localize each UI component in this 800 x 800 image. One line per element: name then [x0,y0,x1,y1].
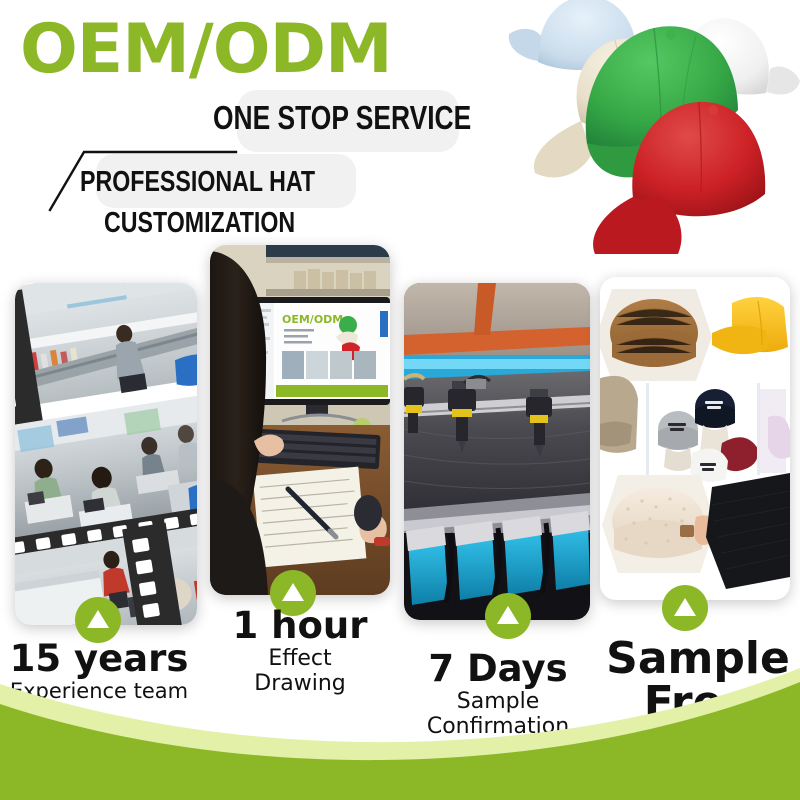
svg-text:OEM/ODM: OEM/ODM [282,313,343,326]
designer-at-computer-image: OEM/ODM [210,245,390,595]
baseball-cap-cluster-image [435,0,800,257]
panel-design[interactable]: OEM/ODM [210,245,390,595]
caption-design-title: 1 hour [205,607,395,646]
laser-cutting-machine-image [404,283,590,620]
panel-products[interactable] [600,277,790,600]
tagline-line-2: CUSTOMIZATION [104,209,295,238]
up-triangle-badge-products [662,585,708,631]
panel-factory[interactable] [15,283,197,625]
promo-banner: OEM/ODM ONE STOP SERVICE PROFESSIONAL HA… [0,0,800,800]
headline-subtitle: ONE STOP SERVICE [213,101,471,134]
bottom-green-wave-decoration [0,660,800,800]
tagline-line-1: PROFESSIONAL HAT [80,168,315,197]
panel-cutting[interactable] [404,283,590,620]
embroidery-and-sewing-factory-floor-image [15,283,197,625]
hat-product-hexagon-grid-image [600,277,790,600]
up-triangle-badge-cutting [485,593,531,639]
page-title: OEM/ODM [20,16,392,84]
